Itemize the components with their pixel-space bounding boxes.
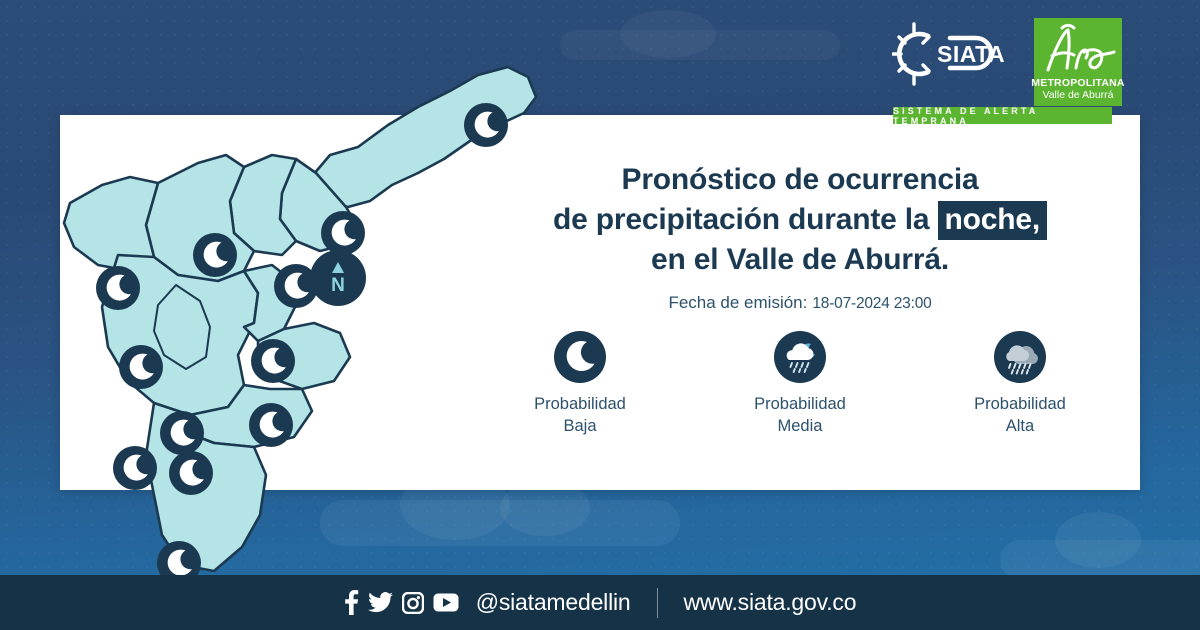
legend-label-line1: Probabilidad bbox=[534, 393, 626, 415]
map-marker-moon[interactable] bbox=[248, 402, 294, 448]
legend-label-line2: Media bbox=[754, 415, 846, 437]
legend-label-media: Probabilidad Media bbox=[754, 393, 846, 437]
municipality-map: N bbox=[58, 55, 578, 575]
social-icons bbox=[344, 590, 459, 615]
area-metropolitana-logo: METROPOLITANA Valle de Aburrá bbox=[1034, 18, 1122, 106]
legend-label-alta: Probabilidad Alta bbox=[974, 393, 1066, 437]
legend-item-baja: Probabilidad Baja bbox=[488, 330, 673, 437]
moon-icon bbox=[463, 102, 509, 148]
moon-icon bbox=[118, 344, 164, 390]
map-marker-moon[interactable] bbox=[192, 232, 238, 278]
siata-wordmark: SIATA bbox=[937, 41, 1005, 67]
legend-label-line1: Probabilidad bbox=[754, 393, 846, 415]
moon-icon bbox=[250, 338, 296, 384]
title-line-3: en el Valle de Aburrá. bbox=[470, 240, 1130, 280]
map-marker-moon[interactable] bbox=[95, 265, 141, 311]
moon-icon bbox=[192, 232, 238, 278]
moon-icon bbox=[168, 450, 214, 496]
legend-item-media: Probabilidad Media bbox=[708, 330, 893, 437]
title-line-1: Pronóstico de ocurrencia bbox=[470, 160, 1130, 200]
cloud-silhouette bbox=[1055, 512, 1141, 568]
facebook-icon[interactable] bbox=[344, 590, 359, 615]
probability-legend: Probabilidad Baja Proba bbox=[470, 330, 1130, 437]
infographic-canvas: SIATA METROPOLITANA Valle de Aburrá SIST… bbox=[0, 0, 1200, 630]
twitter-icon[interactable] bbox=[368, 592, 393, 614]
map-marker-moon[interactable] bbox=[112, 445, 158, 491]
instagram-icon[interactable] bbox=[402, 592, 424, 614]
emission-label: Fecha de emisión: bbox=[668, 293, 807, 312]
page-title: Pronóstico de ocurrencia de precipitació… bbox=[470, 160, 1130, 280]
cloud-heavy-rain-icon bbox=[993, 330, 1047, 384]
emission-value: 18-07-2024 23:00 bbox=[812, 295, 931, 312]
ama-line2: Valle de Aburrá bbox=[1042, 89, 1113, 101]
siata-logo: SIATA bbox=[892, 20, 1022, 88]
map-marker-moon[interactable] bbox=[250, 338, 296, 384]
moon-icon bbox=[248, 402, 294, 448]
svg-text:N: N bbox=[331, 275, 345, 296]
legend-label-baja: Probabilidad Baja bbox=[534, 393, 626, 437]
moon-icon bbox=[95, 265, 141, 311]
legend-label-line2: Alta bbox=[974, 415, 1066, 437]
map-marker-moon[interactable] bbox=[118, 344, 164, 390]
website-url[interactable]: www.siata.gov.co bbox=[684, 589, 857, 616]
headline-panel: Pronóstico de ocurrencia de precipitació… bbox=[470, 160, 1130, 313]
title-line-2: de precipitación durante la noche, bbox=[470, 200, 1130, 240]
period-highlight: noche, bbox=[938, 201, 1047, 240]
tagline-bar: SISTEMA DE ALERTA TEMPRANA bbox=[893, 107, 1112, 124]
cloud-moon-rain-icon bbox=[773, 330, 827, 384]
logo-group: SIATA METROPOLITANA Valle de Aburrá SIST… bbox=[892, 18, 1122, 110]
ama-line1: METROPOLITANA bbox=[1031, 77, 1124, 89]
legend-label-line2: Baja bbox=[534, 415, 626, 437]
sun-cloud-icon: SIATA bbox=[892, 20, 1022, 88]
footer-bar: @siatamedellin www.siata.gov.co bbox=[0, 575, 1200, 630]
moon-icon bbox=[553, 330, 607, 384]
social-handle[interactable]: @siatamedellin bbox=[476, 589, 631, 616]
area-script-icon bbox=[1040, 22, 1116, 78]
footer-divider bbox=[657, 588, 658, 618]
cloud-silhouette bbox=[620, 10, 716, 58]
emission-date: Fecha de emisión:18-07-2024 23:00 bbox=[470, 293, 1130, 313]
legend-label-line1: Probabilidad bbox=[974, 393, 1066, 415]
map-marker-moon[interactable] bbox=[463, 102, 509, 148]
title-line-2-text: de precipitación durante la bbox=[553, 203, 929, 236]
moon-icon bbox=[112, 445, 158, 491]
compass-badge: N bbox=[310, 250, 366, 306]
legend-item-alta: Probabilidad Alta bbox=[928, 330, 1113, 437]
north-arrow-icon: N bbox=[310, 250, 366, 306]
youtube-icon[interactable] bbox=[433, 593, 459, 612]
map-marker-moon[interactable] bbox=[168, 450, 214, 496]
